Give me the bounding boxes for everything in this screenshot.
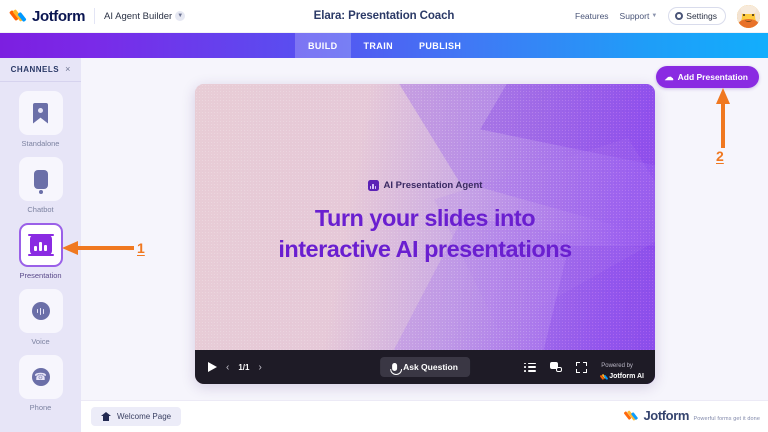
page-indicator: 1/1 [238, 363, 249, 372]
add-presentation-button[interactable]: ☁ Add Presentation [656, 66, 759, 88]
top-header: Jotform AI Agent Builder ▼ Elara: Presen… [0, 0, 768, 33]
jotform-logo-icon [10, 8, 26, 24]
channels-title: CHANNELS [11, 65, 59, 74]
presentation-icon [30, 235, 52, 255]
brand-block[interactable]: Jotform [0, 8, 85, 25]
jotform-watermark: Jotform Powerful forms get it done [625, 408, 760, 425]
channels-header: CHANNELS × [0, 58, 81, 82]
sidebar-item-label: Standalone [22, 139, 60, 148]
ask-question-button[interactable]: Ask Question [380, 357, 470, 377]
chevron-down-icon: ▼ [651, 13, 657, 19]
nav-features-label: Features [575, 11, 609, 21]
tab-train-label: TRAIN [364, 41, 394, 51]
chevron-right-icon[interactable]: › [258, 362, 261, 373]
slide-headline-line1: Turn your slides into [221, 203, 629, 234]
chevron-left-icon[interactable]: ‹ [226, 362, 229, 373]
chevron-down-icon: ▼ [175, 11, 185, 21]
home-icon [101, 412, 111, 421]
voice-tile[interactable] [19, 289, 63, 333]
jotform-mini-logo-icon [601, 374, 607, 380]
cards-icon[interactable] [550, 362, 562, 372]
voice-wave-icon [32, 302, 50, 320]
close-icon[interactable]: × [65, 65, 70, 74]
settings-button[interactable]: Settings [668, 7, 726, 25]
tab-publish[interactable]: PUBLISH [406, 33, 474, 58]
player-toolbar: ‹ 1/1 › Ask Question Powered by [195, 350, 655, 384]
product-switcher[interactable]: AI Agent Builder ▼ [104, 11, 185, 22]
mobile-chat-icon [34, 170, 48, 189]
nav-features[interactable]: Features [575, 11, 609, 21]
gear-icon [675, 12, 683, 20]
watermark-tagline: Powerful forms get it done [694, 416, 761, 422]
main-tabbar: BUILD TRAIN PUBLISH [0, 33, 768, 58]
annotation-number-1: 1 [137, 240, 145, 256]
slide-badge-label: AI Presentation Agent [384, 180, 483, 191]
tab-train[interactable]: TRAIN [351, 33, 407, 58]
microphone-icon [392, 363, 397, 371]
powered-brand-text: Jotform AI [609, 373, 644, 382]
sidebar-item-presentation[interactable]: Presentation [19, 223, 63, 280]
slide-headline-line2: interactive AI presentations [221, 234, 629, 265]
builder-canvas: ☁ Add Presentation AI Presentation Agent… [81, 58, 768, 432]
phone-tile[interactable]: ☎ [19, 355, 63, 399]
nav-support-label: Support [620, 11, 650, 21]
header-divider [94, 8, 95, 24]
sidebar-item-phone[interactable]: ☎ Phone [19, 355, 63, 412]
sidebar-item-label: Phone [30, 403, 52, 412]
list-icon[interactable] [524, 363, 536, 372]
ask-question-label: Ask Question [403, 362, 458, 372]
standalone-tile[interactable] [19, 91, 63, 135]
phone-icon: ☎ [32, 368, 50, 386]
jotform-logo-icon [625, 409, 639, 423]
player-right-controls: Powered by Jotform AI [524, 353, 655, 382]
presentation-badge-icon [368, 180, 379, 191]
annotation-number-2: 2 [716, 148, 724, 164]
fullscreen-icon[interactable] [576, 362, 587, 373]
presentation-player[interactable]: AI Presentation Agent Turn your slides i… [195, 84, 655, 384]
tab-publish-label: PUBLISH [419, 41, 461, 51]
canvas-bottom-bar: Welcome Page Jotform Powerful forms get … [81, 400, 768, 432]
product-label: AI Agent Builder [104, 11, 172, 22]
sidebar-item-label: Chatbot [27, 205, 53, 214]
sidebar-item-label: Voice [31, 337, 49, 346]
add-presentation-label: Add Presentation [678, 72, 748, 82]
sidebar-item-chatbot[interactable]: Chatbot [19, 157, 63, 214]
settings-label: Settings [686, 11, 717, 21]
annotation-label-2: 2 [716, 148, 724, 164]
app-root: Jotform AI Agent Builder ▼ Elara: Presen… [0, 0, 768, 432]
nav-support[interactable]: Support ▼ [620, 11, 658, 21]
welcome-page-chip[interactable]: Welcome Page [91, 407, 181, 426]
upload-cloud-icon: ☁ [665, 73, 674, 82]
welcome-page-label: Welcome Page [117, 412, 171, 421]
header-actions: Features Support ▼ Settings [575, 5, 768, 28]
slide-headline: Turn your slides into interactive AI pre… [221, 203, 629, 266]
avatar[interactable] [737, 5, 760, 28]
player-left-controls: ‹ 1/1 › [195, 362, 262, 373]
brand-name: Jotform [32, 8, 85, 25]
sidebar-item-voice[interactable]: Voice [19, 289, 63, 346]
annotation-label-1: 1 [137, 240, 145, 256]
slide-badge: AI Presentation Agent [221, 180, 629, 191]
watermark-brand: Jotform [643, 408, 689, 423]
powered-by-block: Powered by Jotform AI [601, 353, 644, 382]
powered-by-brand: Jotform AI [601, 373, 644, 382]
chatbot-tile[interactable] [19, 157, 63, 201]
presentation-channel-tile[interactable] [19, 223, 63, 267]
play-icon[interactable] [208, 362, 217, 372]
bookmark-person-icon [33, 103, 48, 124]
tab-list: BUILD TRAIN PUBLISH [295, 33, 474, 58]
slide-content: AI Presentation Agent Turn your slides i… [195, 180, 655, 266]
tab-build-label: BUILD [308, 41, 338, 51]
sidebar-item-standalone[interactable]: Standalone [19, 91, 63, 148]
channels-sidebar: CHANNELS × Standalone Chatbot Presentati… [0, 58, 81, 432]
powered-by-label: Powered by [601, 363, 633, 369]
sidebar-item-label: Presentation [19, 271, 61, 280]
tab-build[interactable]: BUILD [295, 33, 351, 58]
